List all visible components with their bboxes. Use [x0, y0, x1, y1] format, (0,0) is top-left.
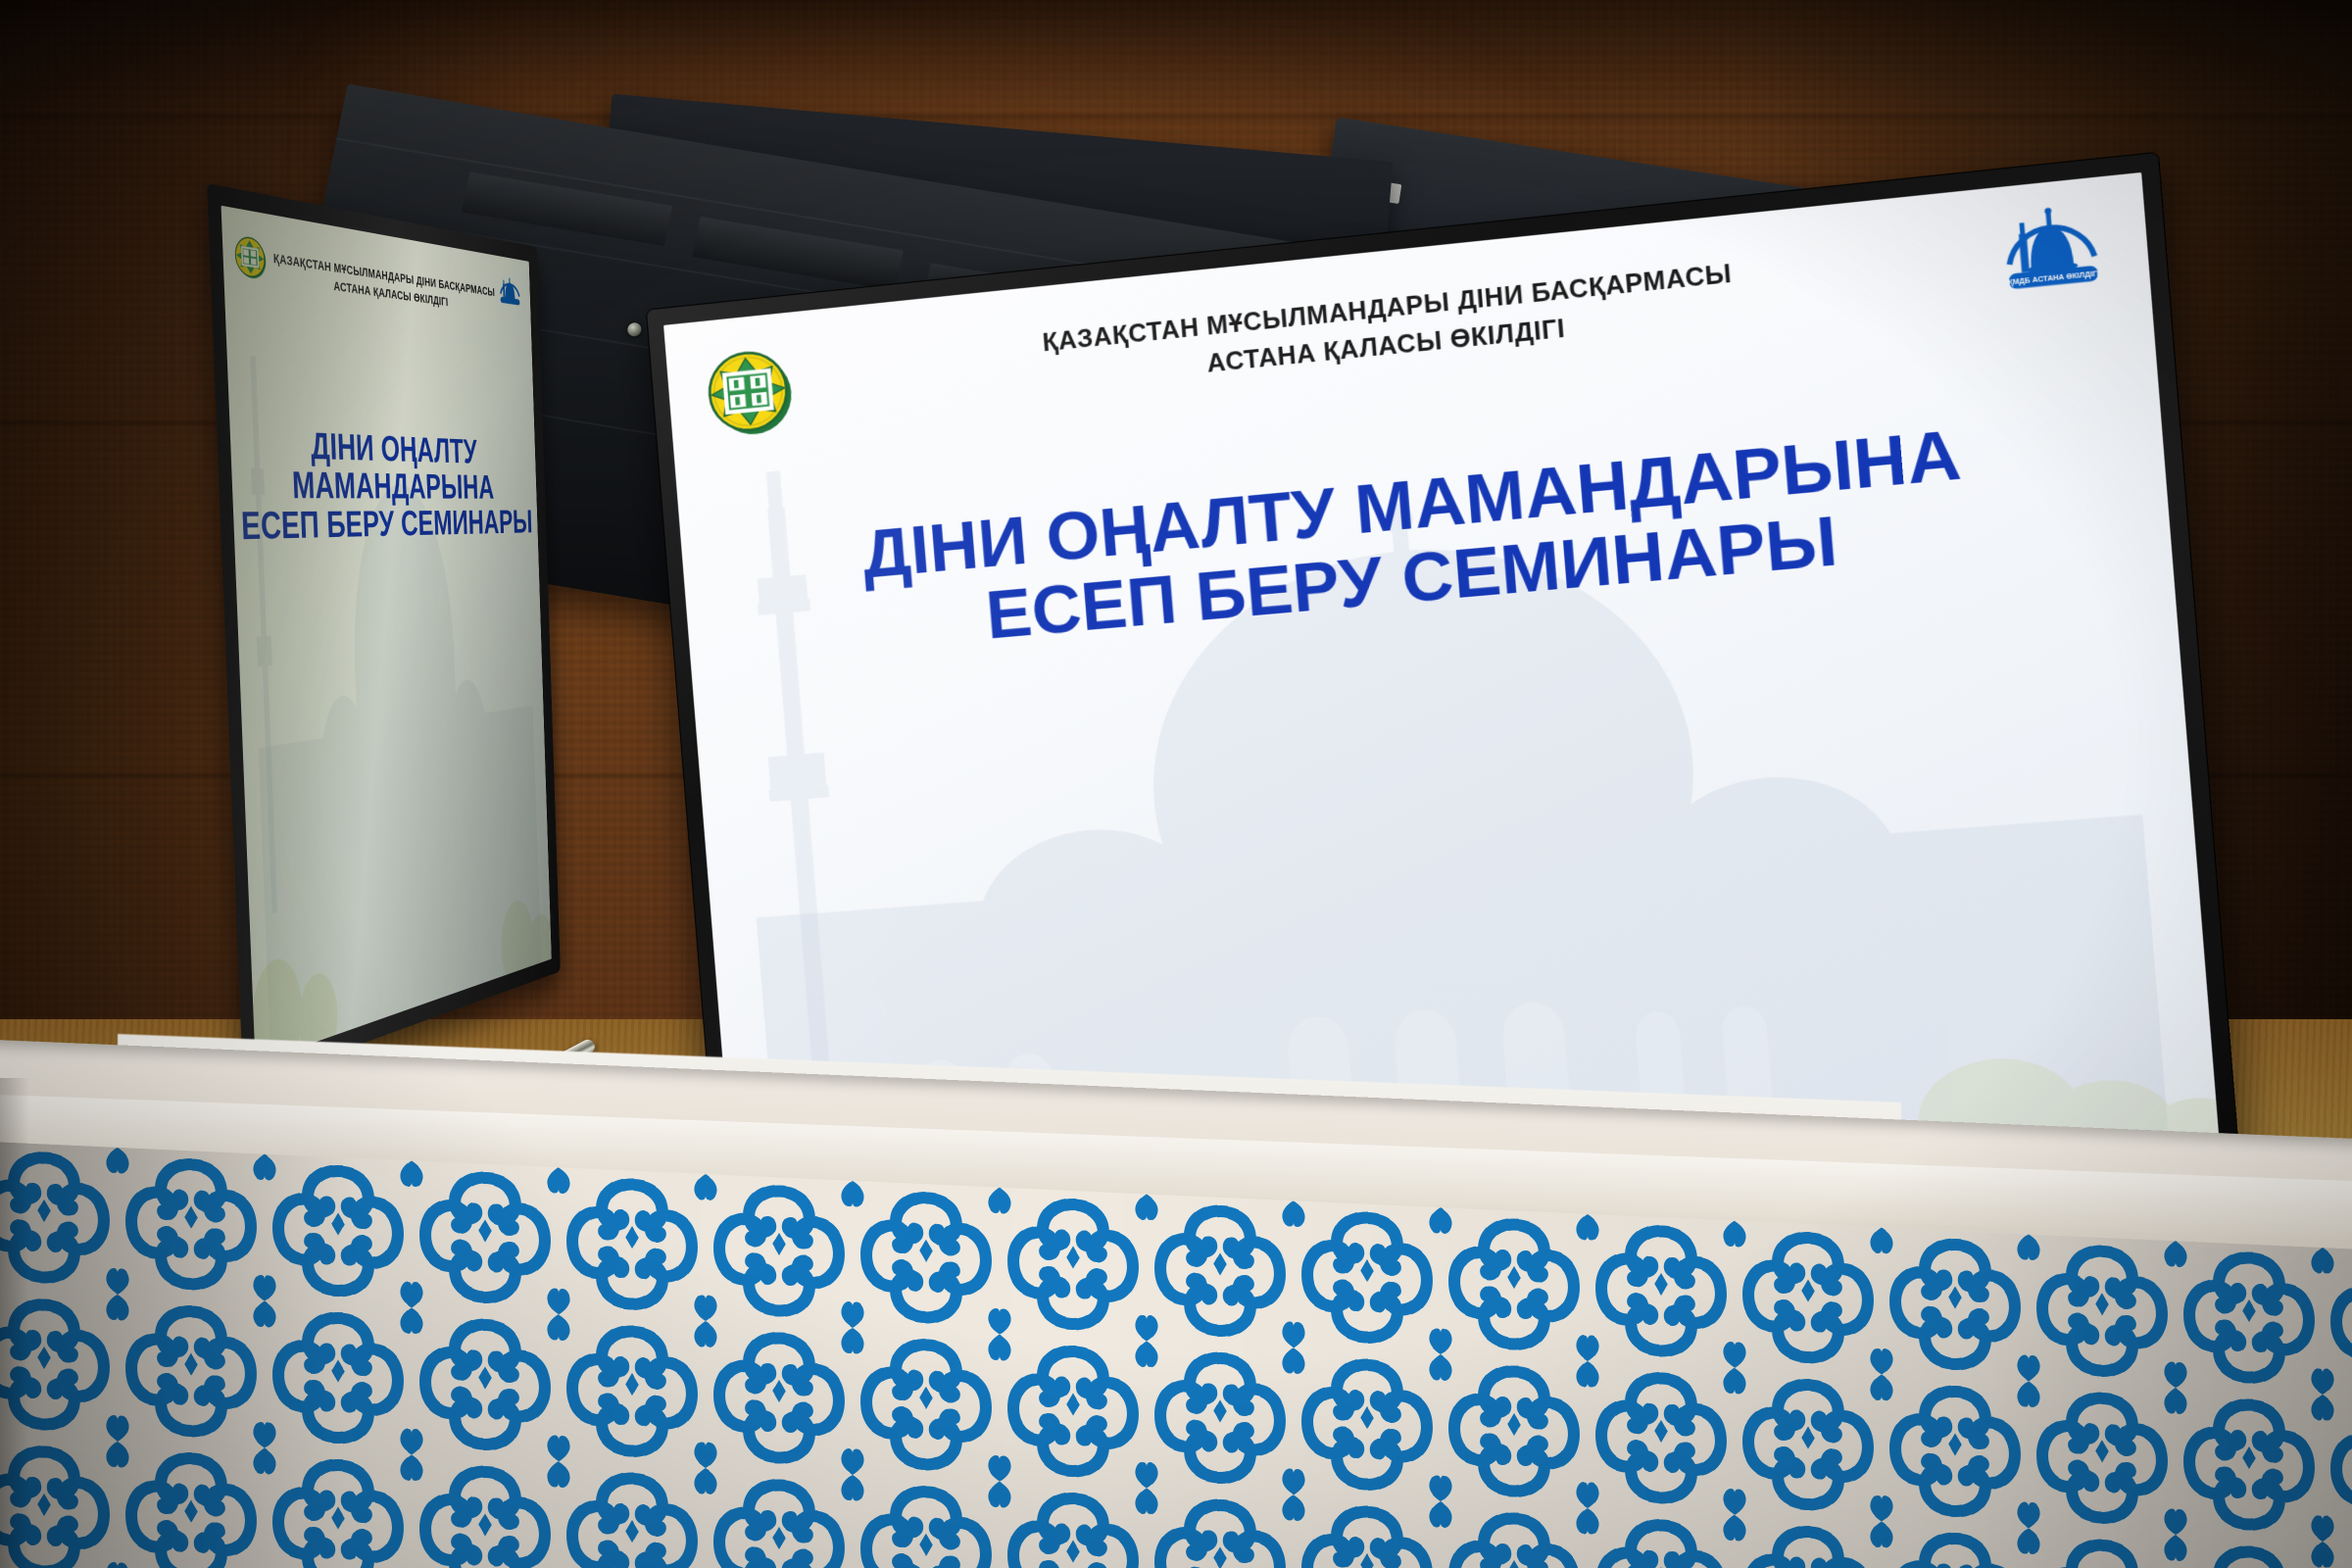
pedestal-left-shadow [0, 1078, 29, 1568]
television-left: ҚАЗАҚСТАН МҰСЫЛМАНДАРЫ ДІНИ БАСҚАРМАСЫ А… [207, 183, 561, 1087]
pedestal [0, 1039, 2352, 1568]
left-tv-glare [221, 206, 552, 1063]
tv-panel: ҚАЗАҚСТАН МҰСЫЛМАНДАРЫ ДІНИ БАСҚАРМАСЫ А… [221, 206, 552, 1063]
photo-scene: ҚАЗАҚСТАН МҰСЫЛМАНДАРЫ ДІНИ БАСҚАРМАСЫ А… [0, 0, 2352, 1568]
